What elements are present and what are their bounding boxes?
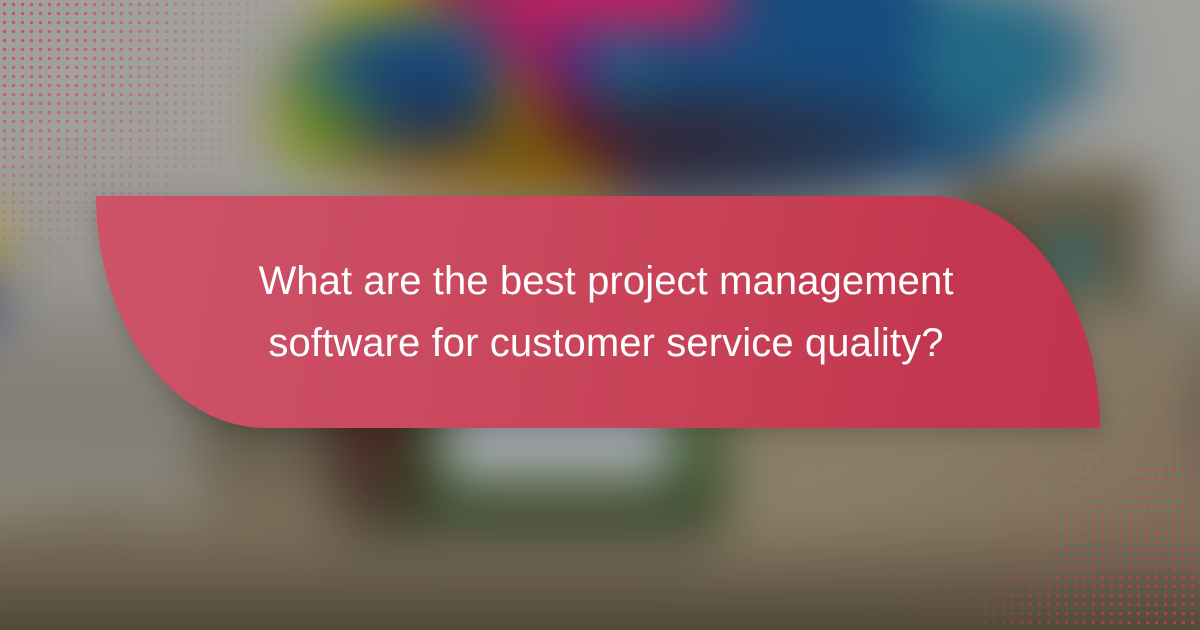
question-line-2: software for customer service quality? <box>268 321 943 365</box>
share-card: What are the best project managementsoft… <box>0 0 1200 630</box>
question-line-1: What are the best project management <box>258 259 953 303</box>
question-heading: What are the best project managementsoft… <box>246 250 966 374</box>
question-banner: What are the best project managementsoft… <box>96 196 1100 428</box>
